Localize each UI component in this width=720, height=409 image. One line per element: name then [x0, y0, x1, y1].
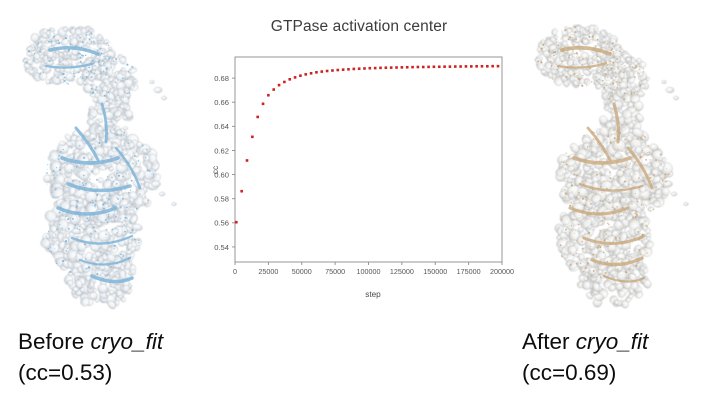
- model-atom: [635, 210, 637, 212]
- model-atom: [126, 206, 128, 208]
- model-atom: [612, 240, 614, 242]
- model-atom: [108, 198, 110, 200]
- data-point: [315, 71, 318, 74]
- model-atom: [110, 155, 111, 156]
- model-atom: [121, 134, 122, 135]
- model-atom: [596, 174, 598, 176]
- ribosome-render-after: [518, 8, 718, 318]
- model-atom: [590, 37, 591, 38]
- model-atom: [74, 233, 75, 234]
- model-atom: [563, 55, 564, 56]
- model-atom: [604, 275, 605, 276]
- data-point: [353, 68, 356, 71]
- model-atom: [150, 173, 151, 174]
- data-point: [401, 66, 404, 69]
- model-atom: [47, 248, 49, 250]
- model-atom: [642, 258, 644, 260]
- model-atom: [614, 65, 615, 66]
- density-blob: [615, 57, 620, 63]
- model-atom: [576, 197, 577, 198]
- model-atom: [56, 48, 57, 49]
- model-atom: [39, 51, 41, 53]
- model-atom: [598, 28, 599, 29]
- model-atom: [71, 198, 72, 199]
- model-atom: [585, 196, 587, 198]
- model-atom: [611, 260, 613, 262]
- model-atom: [636, 200, 638, 202]
- model-atom: [632, 242, 633, 243]
- model-atom: [103, 63, 104, 64]
- model-atom: [620, 169, 621, 170]
- model-atom: [68, 49, 70, 51]
- model-atom: [75, 244, 76, 245]
- density-blob-satellite: [673, 96, 678, 100]
- model-atom: [578, 57, 579, 58]
- model-atom: [604, 217, 606, 219]
- model-atom: [597, 143, 598, 144]
- model-atom: [571, 184, 573, 186]
- model-atom: [92, 199, 93, 200]
- model-atom: [639, 154, 641, 156]
- model-atom: [588, 209, 589, 210]
- model-atom: [75, 45, 77, 47]
- model-atom: [647, 145, 649, 147]
- model-atom: [598, 268, 600, 270]
- model-atom: [106, 67, 108, 69]
- model-atom: [587, 146, 588, 147]
- model-atom: [99, 48, 101, 50]
- model-atom: [597, 213, 598, 214]
- model-atom: [638, 177, 640, 179]
- model-atom: [78, 52, 80, 54]
- model-atom: [617, 149, 619, 151]
- model-atom: [640, 137, 642, 139]
- model-atom: [619, 241, 621, 243]
- model-atom: [89, 244, 90, 245]
- model-atom: [606, 85, 607, 86]
- model-atom: [94, 205, 95, 206]
- model-atom: [610, 95, 612, 97]
- model-atom: [48, 37, 49, 38]
- model-atom: [124, 132, 125, 133]
- model-atom: [556, 39, 557, 40]
- model-atom: [561, 30, 562, 31]
- model-atom: [597, 39, 598, 40]
- model-atom: [640, 77, 641, 78]
- model-atom: [585, 180, 587, 182]
- model-atom: [597, 216, 599, 218]
- model-atom: [625, 271, 627, 273]
- model-atom: [82, 41, 84, 43]
- model-atom: [88, 267, 90, 269]
- model-atom: [619, 186, 620, 187]
- model-atom: [94, 70, 95, 71]
- model-atom: [33, 60, 35, 62]
- model-atom: [668, 174, 670, 176]
- model-atom: [616, 52, 617, 53]
- model-atom: [653, 189, 654, 190]
- data-point: [406, 66, 409, 69]
- model-atom: [605, 61, 606, 62]
- model-atom: [47, 30, 49, 32]
- model-atom: [92, 60, 94, 62]
- x-axis-label: step: [365, 290, 381, 299]
- density-blob: [562, 31, 568, 36]
- data-point: [246, 159, 249, 162]
- model-atom: [115, 97, 116, 98]
- model-atom: [617, 87, 619, 89]
- model-atom: [571, 225, 572, 226]
- model-atom: [113, 206, 115, 208]
- model-atom: [611, 134, 612, 135]
- density-blob: [626, 57, 631, 61]
- model-atom: [624, 92, 626, 94]
- model-atom: [629, 250, 631, 252]
- model-atom: [600, 200, 602, 202]
- data-point: [267, 94, 270, 97]
- model-atom: [107, 176, 108, 177]
- model-atom: [97, 259, 99, 261]
- model-atom: [563, 50, 564, 51]
- model-atom: [106, 274, 108, 276]
- density-blob: [90, 34, 94, 38]
- model-atom: [92, 200, 93, 201]
- model-atom: [581, 41, 583, 43]
- model-atom: [603, 151, 605, 153]
- model-atom: [58, 238, 59, 239]
- model-atom: [100, 191, 101, 192]
- model-atom: [62, 156, 63, 157]
- model-atom: [601, 149, 602, 150]
- model-atom: [114, 133, 115, 134]
- model-atom: [83, 229, 84, 230]
- density-blob-satellite: [29, 70, 35, 74]
- model-atom: [125, 189, 126, 190]
- model-atom: [648, 198, 650, 200]
- model-atom: [138, 239, 140, 241]
- model-atom: [136, 208, 138, 210]
- model-atom: [597, 56, 598, 57]
- model-atom: [580, 31, 581, 32]
- model-atom: [83, 175, 85, 177]
- model-atom: [620, 215, 621, 216]
- model-atom: [112, 229, 113, 230]
- model-atom: [572, 191, 573, 192]
- model-atom: [610, 177, 612, 179]
- density-blob: [594, 58, 596, 61]
- model-atom: [63, 63, 64, 64]
- model-atom: [76, 212, 78, 214]
- model-atom: [611, 78, 612, 79]
- model-atom: [101, 53, 103, 55]
- model-atom: [618, 176, 619, 177]
- model-atom: [109, 69, 110, 70]
- model-atom: [98, 161, 99, 162]
- model-atom: [51, 165, 52, 166]
- model-atom: [70, 205, 71, 206]
- model-atom: [145, 157, 146, 158]
- model-atom: [591, 131, 593, 133]
- model-atom: [59, 167, 60, 168]
- model-atom: [607, 135, 609, 137]
- model-atom: [119, 226, 120, 227]
- model-atom: [649, 230, 650, 231]
- model-atom: [640, 253, 642, 255]
- model-atom: [592, 35, 594, 37]
- model-atom: [596, 54, 597, 55]
- model-atom: [34, 53, 36, 55]
- model-atom: [132, 163, 133, 164]
- model-atom: [84, 243, 86, 245]
- model-atom: [615, 244, 616, 245]
- density-blob: [97, 126, 103, 131]
- x-tick-marks: [235, 262, 502, 265]
- model-atom: [72, 180, 74, 182]
- model-atom: [83, 157, 85, 159]
- model-atom: [615, 53, 616, 54]
- model-atom: [79, 37, 81, 39]
- density-blob: [629, 71, 634, 78]
- model-atom: [98, 270, 99, 271]
- ribosome-render-before: [6, 8, 206, 318]
- model-atom: [88, 66, 90, 68]
- model-atom: [85, 84, 86, 85]
- model-atom: [82, 78, 83, 79]
- model-atom: [103, 56, 104, 57]
- caption-after-italic: cryo_fit: [576, 329, 649, 354]
- model-atom: [573, 62, 574, 63]
- model-atom: [87, 32, 88, 33]
- model-atom: [107, 265, 108, 266]
- model-atom: [105, 162, 106, 163]
- model-atom: [593, 138, 594, 139]
- model-atom: [591, 275, 593, 277]
- model-atom: [39, 67, 40, 68]
- model-atom: [588, 232, 590, 234]
- model-atom: [564, 29, 566, 31]
- model-atom: [67, 161, 69, 163]
- model-atom: [573, 44, 574, 45]
- model-atom: [623, 98, 625, 100]
- model-atom: [611, 92, 612, 93]
- model-atom: [117, 259, 118, 260]
- model-atom: [72, 218, 74, 220]
- model-atom: [129, 72, 130, 73]
- model-atom: [122, 254, 123, 255]
- model-atom: [571, 37, 573, 39]
- model-atom: [609, 141, 611, 143]
- model-atom: [645, 204, 646, 205]
- model-atom: [637, 231, 639, 233]
- model-atom: [128, 71, 129, 72]
- model-atom: [645, 247, 646, 248]
- model-atom: [618, 135, 620, 137]
- model-atom: [596, 80, 598, 82]
- model-atom: [47, 164, 48, 165]
- model-atom: [582, 167, 583, 168]
- model-atom: [82, 135, 84, 137]
- y-tick-label: 0.64: [214, 122, 229, 131]
- model-atom: [583, 219, 584, 220]
- model-atom: [626, 200, 627, 201]
- model-atom: [663, 186, 664, 187]
- data-point: [374, 67, 377, 70]
- model-atom: [613, 129, 615, 131]
- model-atom: [585, 267, 587, 269]
- model-atom: [561, 255, 562, 256]
- model-atom: [76, 165, 78, 167]
- model-atom: [93, 63, 95, 65]
- model-atom: [642, 234, 644, 236]
- model-atom: [24, 58, 25, 59]
- density-blob-satellite: [671, 192, 677, 196]
- model-atom: [573, 254, 575, 256]
- y-tick-labels: 0.540.560.580.600.620.640.660.68: [214, 74, 229, 252]
- model-atom: [589, 145, 591, 147]
- model-atom: [647, 252, 649, 254]
- model-atom: [556, 64, 557, 65]
- model-atom: [586, 57, 587, 58]
- model-atom: [564, 189, 566, 191]
- model-atom: [664, 176, 666, 178]
- model-atom: [601, 71, 602, 72]
- model-atom: [612, 82, 614, 84]
- model-atom: [71, 27, 73, 29]
- model-atom: [566, 67, 568, 69]
- model-atom: [603, 252, 604, 253]
- model-atom: [59, 169, 61, 171]
- model-atom: [622, 207, 624, 209]
- model-atom: [120, 253, 122, 255]
- model-atom: [30, 64, 31, 65]
- model-atom: [127, 78, 128, 79]
- density-blob-satellite: [150, 80, 154, 83]
- model-atom: [633, 181, 635, 183]
- model-atom: [116, 262, 118, 264]
- density-blob-satellite: [161, 96, 166, 100]
- model-atom: [571, 182, 572, 183]
- model-atom: [80, 275, 81, 276]
- model-atom: [66, 82, 67, 83]
- data-point: [299, 74, 302, 77]
- model-atom: [29, 42, 30, 43]
- model-atom: [577, 75, 578, 76]
- x-tick-label: 150000: [423, 267, 447, 276]
- model-atom: [628, 183, 630, 185]
- model-atom: [599, 79, 600, 80]
- model-atom: [610, 61, 612, 63]
- model-atom: [114, 63, 115, 64]
- model-atom: [120, 213, 121, 214]
- model-atom: [582, 75, 583, 76]
- data-point: [443, 65, 446, 68]
- model-atom: [127, 142, 129, 144]
- model-atom: [561, 47, 562, 48]
- model-atom: [103, 71, 104, 72]
- model-atom: [623, 197, 625, 199]
- model-atom: [574, 31, 576, 33]
- model-atom: [62, 73, 64, 75]
- model-atom: [92, 202, 94, 204]
- model-atom: [134, 250, 135, 251]
- model-atom: [561, 61, 563, 63]
- model-atom: [582, 248, 583, 249]
- model-atom: [97, 222, 98, 223]
- model-atom: [79, 181, 81, 183]
- model-atom: [607, 64, 609, 66]
- model-atom: [107, 212, 108, 213]
- model-atom: [569, 205, 571, 207]
- model-atom: [577, 54, 578, 55]
- model-atom: [113, 190, 114, 191]
- model-atom: [121, 74, 122, 75]
- model-atom: [591, 62, 593, 64]
- model-atom: [547, 60, 548, 61]
- model-atom: [619, 51, 621, 53]
- model-atom: [597, 247, 599, 249]
- data-point: [385, 66, 388, 69]
- model-atom: [128, 192, 130, 194]
- model-atom: [76, 200, 78, 202]
- model-atom: [602, 145, 604, 147]
- model-atom: [575, 233, 576, 234]
- model-atom: [114, 245, 116, 247]
- model-atom: [589, 271, 590, 272]
- model-atom: [613, 61, 614, 62]
- model-atom: [601, 213, 602, 214]
- model-atom: [110, 266, 112, 268]
- model-atom: [69, 189, 70, 190]
- model-atom: [83, 69, 84, 70]
- data-point: [390, 66, 393, 69]
- density-blob: [135, 238, 142, 246]
- x-tick-label: 200000: [490, 267, 514, 276]
- model-atom: [587, 198, 588, 199]
- model-atom: [67, 218, 69, 220]
- model-atom: [615, 71, 616, 72]
- model-atom: [94, 147, 96, 149]
- model-atom: [147, 200, 148, 201]
- model-atom: [67, 248, 68, 249]
- model-atom: [635, 216, 636, 217]
- model-atom: [126, 217, 128, 219]
- model-atom: [99, 54, 101, 56]
- model-atom: [628, 164, 629, 165]
- data-point: [427, 66, 430, 69]
- model-atom: [107, 56, 108, 57]
- model-atom: [562, 48, 563, 49]
- model-atom: [105, 74, 107, 76]
- model-atom: [585, 140, 586, 141]
- model-atom: [102, 188, 103, 189]
- model-atom: [81, 182, 83, 184]
- model-atom: [634, 213, 636, 215]
- model-atom: [91, 159, 92, 160]
- model-atom: [623, 171, 624, 172]
- model-atom: [58, 230, 59, 231]
- model-atom: [88, 219, 90, 221]
- model-atom: [79, 145, 81, 147]
- model-atom: [123, 87, 124, 88]
- model-atom: [665, 174, 667, 176]
- model-atom: [58, 42, 60, 44]
- model-atom: [576, 199, 577, 200]
- model-atom: [632, 209, 634, 211]
- model-atom: [106, 179, 107, 180]
- model-atom: [87, 174, 88, 175]
- model-atom: [128, 174, 129, 175]
- data-point: [347, 68, 350, 71]
